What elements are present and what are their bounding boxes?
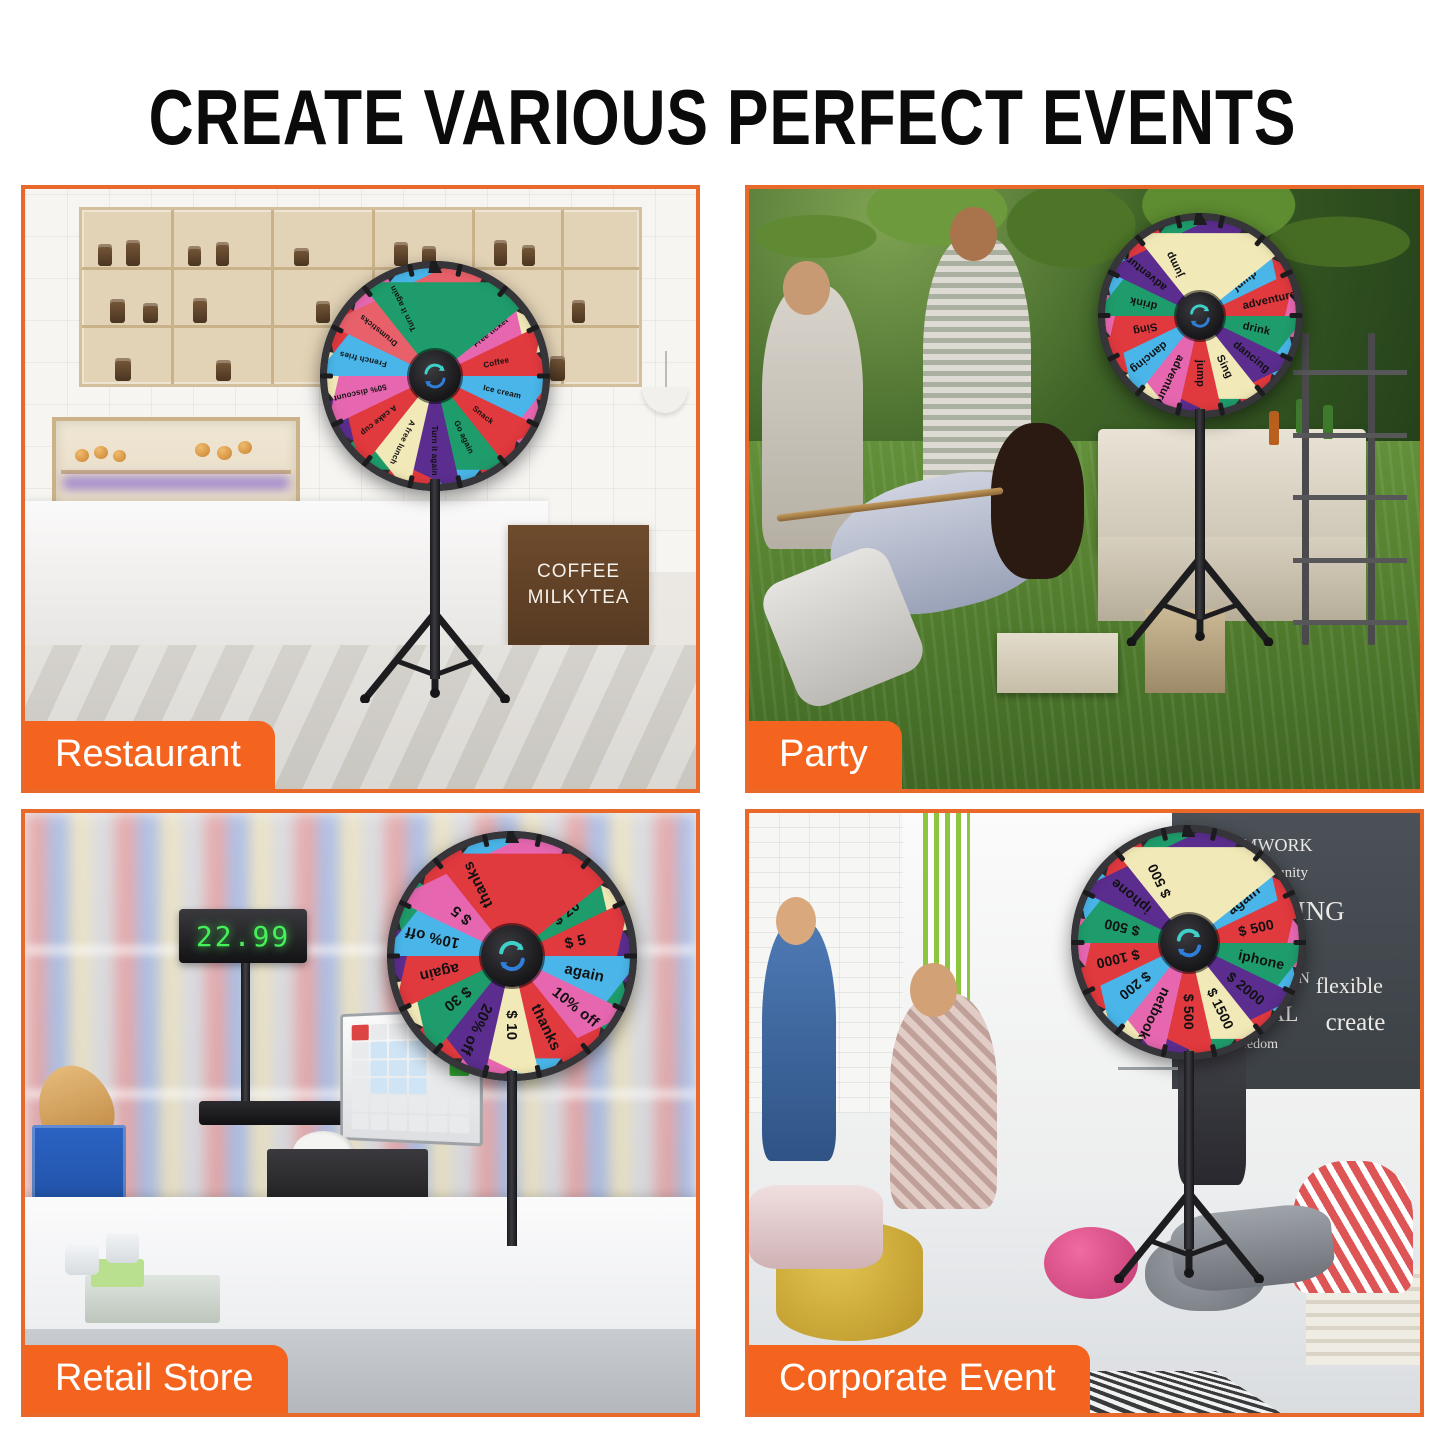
wheel-segment-label: jump <box>1194 359 1206 386</box>
wheel-pole <box>1184 1051 1194 1249</box>
party-wheel-unit: SingdancingjumpadventuredrinkdancingSing… <box>1098 213 1303 663</box>
wheel-hub <box>1160 914 1218 972</box>
wheel-segment-label: $ 5 <box>563 931 588 952</box>
retail-scene: 22.99 <box>25 813 696 1413</box>
panel-retail-store: 22.99 <box>21 809 700 1417</box>
egg-carton <box>85 1275 219 1323</box>
wheel-peg <box>624 954 637 959</box>
corporate-scene: TEAMWORK Community COWORKING THINK MOTIV… <box>749 813 1420 1413</box>
person-standing-woman <box>762 921 836 1161</box>
wheel-hub <box>409 350 461 402</box>
badge-party: Party <box>749 721 902 789</box>
wheel-segment-label: Turn it again <box>431 426 440 476</box>
wheel-pointer <box>505 831 519 843</box>
person-head <box>783 261 830 315</box>
chalk-word: create <box>1326 1009 1386 1037</box>
wheel-pointer <box>428 261 442 273</box>
person-head <box>776 897 816 945</box>
wheel-peg <box>1098 313 1111 318</box>
badge-restaurant: Restaurant <box>25 721 275 789</box>
wheel-segment-label: $ 10 <box>504 1010 521 1040</box>
restaurant-prize-wheel[interactable]: CakeClub ticketsFree ticketCoffeeIce cre… <box>320 261 550 491</box>
wheel-pole <box>507 1071 517 1246</box>
person-arm-foreground <box>749 1185 883 1269</box>
scene-grid: COFFEE MILKYTEA <box>21 185 1424 1417</box>
cup <box>106 1233 140 1263</box>
person-head <box>910 963 957 1017</box>
wheel-peg <box>537 374 550 379</box>
party-prize-wheel[interactable]: SingdancingjumpadventuredrinkdancingSing… <box>1098 213 1303 418</box>
badge-retail-store: Retail Store <box>25 1345 288 1413</box>
corporate-wheel-unit: $ 3000$ 1000again$ 500iphone$ 2000$ 1500… <box>1071 825 1306 1305</box>
wheel-pointer <box>1182 825 1196 837</box>
wheel-hub <box>1176 292 1224 340</box>
page-title: CREATE VARIOUS PERFECT EVENTS <box>145 72 1301 163</box>
wheel-peg <box>320 374 333 379</box>
wheel-peg <box>1293 940 1306 945</box>
party-scene: SingdancingjumpadventuredrinkdancingSing… <box>749 189 1420 789</box>
person-hair <box>991 423 1085 579</box>
panel-party: SingdancingjumpadventuredrinkdancingSing… <box>745 185 1424 793</box>
corporate-prize-wheel[interactable]: $ 3000$ 1000again$ 500iphone$ 2000$ 1500… <box>1071 825 1306 1060</box>
step-ladder <box>1293 333 1407 645</box>
panel-corporate-event: TEAMWORK Community COWORKING THINK MOTIV… <box>745 809 1424 1417</box>
wheel-pointer <box>1193 213 1207 225</box>
panel-restaurant: COFFEE MILKYTEA <box>21 185 700 793</box>
person-head <box>950 207 997 261</box>
chalk-word: flexible <box>1316 973 1383 999</box>
restaurant-scene: COFFEE MILKYTEA <box>25 189 696 789</box>
wheel-peg <box>387 954 400 959</box>
display-base <box>199 1101 347 1125</box>
marketing-image: CREATE VARIOUS PERFECT EVENTS <box>0 0 1445 1445</box>
wheel-pole <box>1195 409 1205 619</box>
spin-arrows-icon <box>494 938 530 974</box>
person-seated-man <box>890 993 997 1209</box>
retail-prize-wheel[interactable]: $ 1035% off$ 20$ 5again10% offthanks$ 10… <box>387 831 637 1081</box>
wheel-hub <box>481 925 543 987</box>
cup <box>65 1245 99 1275</box>
spin-arrows-icon <box>1186 302 1214 330</box>
wheel-segment-label: $ 500 <box>1180 993 1196 1029</box>
spin-arrows-icon <box>420 361 450 391</box>
badge-corporate-event: Corporate Event <box>749 1345 1090 1413</box>
wheel-peg <box>1071 940 1084 945</box>
pos-price-value: 22.99 <box>196 920 290 953</box>
display-pole <box>241 963 250 1107</box>
retail-wheel-unit: $ 1035% off$ 20$ 5again10% offthanks$ 10… <box>387 831 637 1251</box>
wheel-pole <box>430 479 440 679</box>
wheel-peg <box>1290 313 1303 318</box>
pos-price-display: 22.99 <box>179 909 306 963</box>
spin-arrows-icon <box>1172 926 1206 960</box>
restaurant-wheel-unit: CakeClub ticketsFree ticketCoffeeIce cre… <box>320 261 550 691</box>
